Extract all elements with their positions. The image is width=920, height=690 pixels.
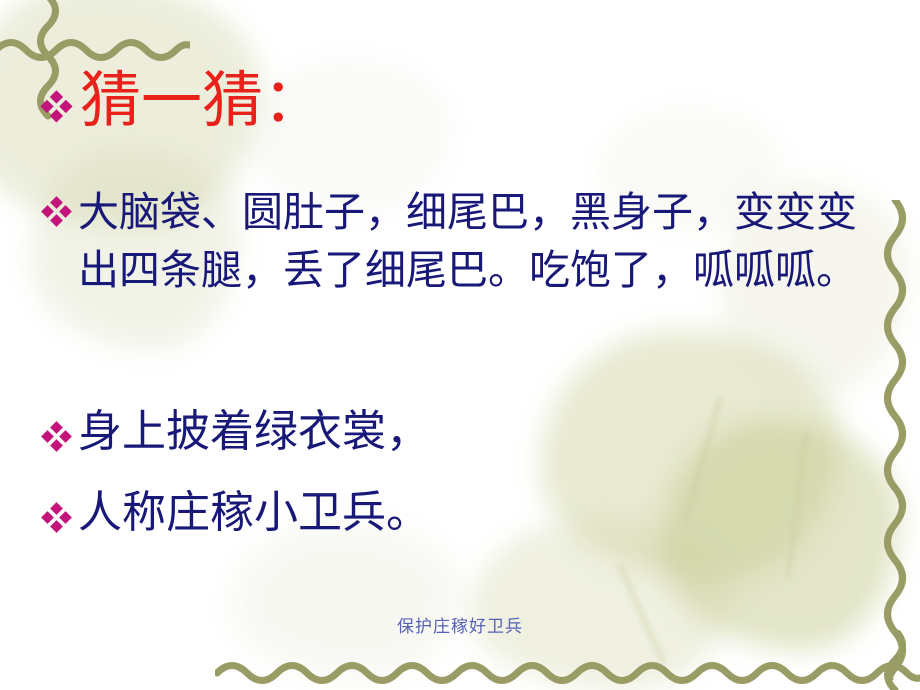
answer-row-1: 身上披着绿衣裳， [42, 406, 742, 458]
slide-title-row: 猜一猜： [42, 70, 324, 131]
footer-text: 保护庄稼好卫兵 [397, 617, 523, 637]
watermark-stem [786, 430, 808, 579]
slide-footer: 保护庄稼好卫兵 [0, 612, 920, 637]
vine-border-top [0, 34, 190, 64]
diamond-cluster-bullet-icon [41, 91, 75, 125]
answer-text-2: 人称庄稼小卫兵。 [78, 487, 430, 539]
page-title: 猜一猜： [80, 70, 324, 131]
answer-text-1: 身上披着绿衣裳， [78, 406, 430, 458]
watermark-leaf-shape [230, 520, 460, 680]
watermark-leaf-shape [470, 520, 730, 690]
vine-border-right [880, 200, 910, 680]
vine-border-bottom [215, 656, 920, 686]
answer-row-2: 人称庄稼小卫兵。 [42, 487, 742, 539]
diamond-cluster-bullet-icon [42, 197, 72, 227]
diamond-cluster-bullet-icon [42, 503, 72, 533]
presentation-slide: 猜一猜： 大脑袋、圆肚子，细尾巴，黑身子，变变变出四条腿，丢了细尾巴。吃饱了，呱… [0, 0, 920, 690]
diamond-cluster-bullet-icon [42, 422, 72, 452]
vine-corner-junction [880, 630, 920, 690]
riddle-row: 大脑袋、圆肚子，细尾巴，黑身子，变变变出四条腿，丢了细尾巴。吃饱了，呱呱呱。 [42, 183, 872, 299]
riddle-text: 大脑袋、圆肚子，细尾巴，黑身子，变变变出四条腿，丢了细尾巴。吃饱了，呱呱呱。 [78, 183, 868, 299]
